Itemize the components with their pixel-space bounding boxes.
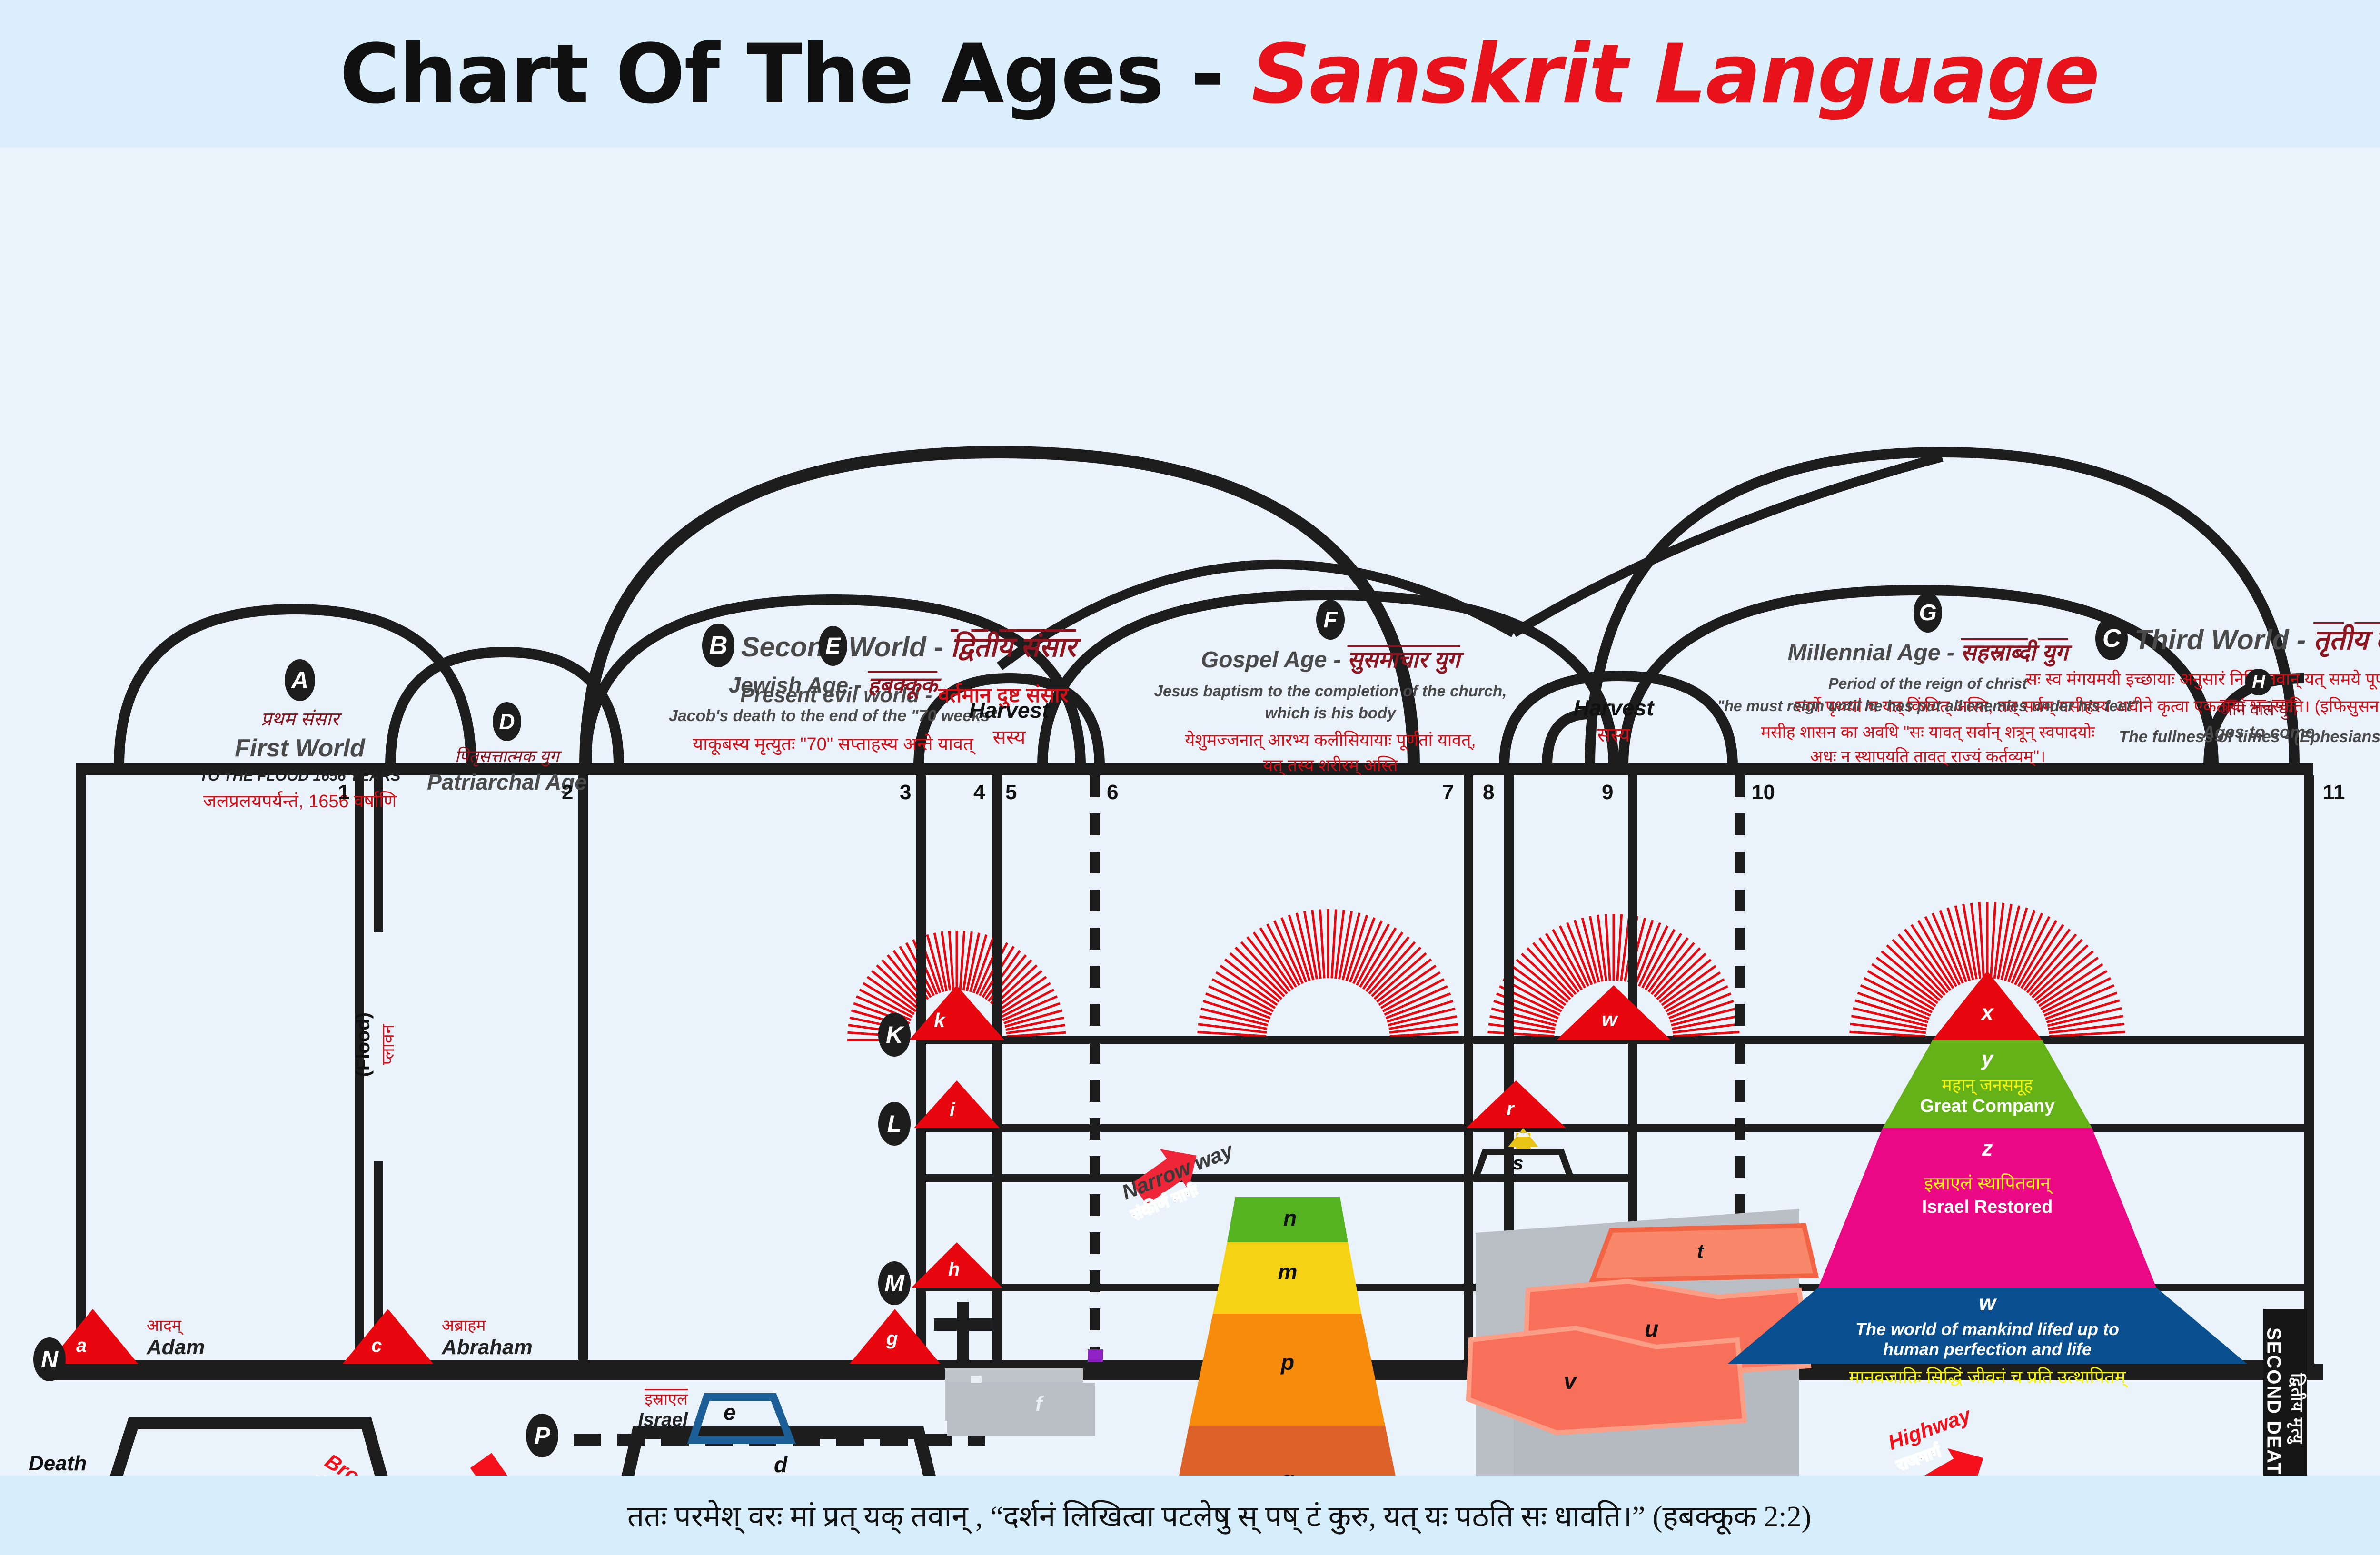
marker-label-e: e — [724, 1399, 736, 1425]
israel-label-sa: इस्राएल — [588, 1387, 688, 1409]
death-label-en: Death — [29, 1452, 87, 1476]
pyramid-band-n: n — [1257, 1205, 1323, 1231]
marker-label-d: d — [628, 1452, 933, 1477]
marker-e: E — [819, 626, 847, 666]
age-g-sub-sa1: मसीह शासन का अवधि "सः यावत् सर्वान् शत्र… — [1633, 721, 2223, 743]
column-number-4: 4 — [973, 781, 985, 804]
age-f-title-en: Gospel Age - — [1201, 647, 1348, 673]
age-f-block: F Gospel Age - सुसमाचार युग Jesus baptis… — [1050, 600, 1611, 776]
row-marker-l: L — [878, 1102, 911, 1146]
great-company-sa: महान् जनसमूह — [1897, 1073, 2078, 1096]
column-number-10: 10 — [1752, 781, 1775, 804]
marker-label-c: c — [371, 1335, 382, 1357]
israel-label-en: Israel — [588, 1409, 688, 1431]
row-marker-k: K — [878, 1013, 911, 1057]
page-title: Chart Of The Ages - Sanskrit Language — [340, 26, 2099, 122]
right-pyramid-band-y: y महान् जनसमूह Great Company — [1897, 1047, 2078, 1117]
marker-label-g: g — [886, 1328, 898, 1349]
marker-label-a: a — [76, 1335, 87, 1357]
harvest-1-sa: सस्य — [919, 723, 1100, 750]
third-world-title-sa: तृतीय लोक — [2313, 624, 2380, 655]
flood-label-sa: प्लावन — [376, 1024, 399, 1065]
age-d-title-en: Patriarchal Age — [395, 769, 619, 795]
column-number-2: 2 — [562, 781, 573, 804]
column-number-1: 1 — [338, 781, 349, 804]
israel-restored-sa: इस्राएलं स्थापितवान् — [1859, 1170, 2116, 1195]
age-g-sub-en2: "he must reign until he has put all enem… — [1633, 697, 2223, 715]
age-h-title-sa: आने वाले युग — [2199, 698, 2318, 720]
world-mankind-en2: human perfection and life — [1761, 1339, 2213, 1359]
chart-of-the-ages-diagram: B Second World - द्वितीय संसार Present e… — [0, 148, 2380, 1476]
row-marker-n: N — [33, 1337, 66, 1381]
second-death-sa: द्वितीय मृत्यु — [2286, 1373, 2308, 1445]
harvest-2-en: Harvest — [1514, 695, 1714, 721]
age-g-title-sa: सहस्राब्दी युग — [1961, 640, 2068, 665]
adam-label-sa: आदम् — [147, 1314, 205, 1336]
marker-label-r: r — [1507, 1099, 1514, 1120]
pyramid-band-p: p — [1254, 1349, 1321, 1375]
harvest-1-en: Harvest — [919, 697, 1100, 723]
column-number-5: 5 — [1005, 781, 1017, 804]
world-mankind-en1: The world of mankind lifed up to — [1761, 1319, 2213, 1339]
marker-label-u: u — [1645, 1316, 1658, 1342]
second-death-en: SECOND DEATH — [2263, 1327, 2284, 1490]
footer-scripture: ततः परमेश् वरः मां प्रत् यक् तवान् , “दर… — [627, 1496, 1811, 1535]
age-e-title-en: Jewish Age - — [729, 673, 868, 697]
marker-g: G — [1914, 593, 1942, 633]
marker-label-s: s — [1513, 1153, 1523, 1174]
flood-label: (Flood) प्लावन — [350, 942, 402, 1147]
marker-label-i: i — [950, 1099, 955, 1121]
age-g-sub-sa2: अधः न स्थापयति तावत् राज्यं कर्तव्यम्"। — [1633, 745, 2223, 767]
column-number-6: 6 — [1107, 781, 1118, 804]
column-number-11: 11 — [2323, 781, 2345, 804]
right-pyramid-band-x: x — [1954, 1000, 2021, 1025]
age-f-sub-sa2: यत् तस्य शरीरम् अस्ति — [1050, 753, 1611, 776]
abraham-label-en: Abraham — [442, 1336, 533, 1359]
right-pyramid-band-w: w The world of mankind lifed up to human… — [1761, 1290, 2213, 1389]
pyramid-band-m: m — [1254, 1259, 1321, 1285]
marker-d: D — [493, 702, 521, 741]
title-main: Chart Of The Ages - — [340, 26, 1251, 122]
adam-label: आदम् Adam — [147, 1314, 205, 1359]
israel-label: इस्राएल Israel — [588, 1387, 688, 1431]
age-g-block: G Millennial Age - सहस्राब्दी युग Period… — [1633, 593, 2223, 767]
column-number-8: 8 — [1483, 781, 1494, 804]
age-h-title-en: Ages to come — [2199, 722, 2318, 742]
marker-label-f-tomb: f — [1035, 1392, 1042, 1416]
marker-h: H — [2245, 669, 2272, 695]
flood-label-en: (Flood) — [353, 1012, 374, 1077]
harvest-2-sa: सस्य — [1514, 721, 1714, 748]
footer-bar: ततः परमेश् वरः मां प्रत् यक् तवान् , “दर… — [0, 1476, 2380, 1555]
harvest-label-2: Harvest सस्य — [1514, 695, 1714, 748]
world-mankind-sa: मानवजातिः सिद्धिं जीवनं च प्रति उत्थापित… — [1761, 1364, 2213, 1389]
title-bar: Chart Of The Ages - Sanskrit Language — [0, 0, 2380, 148]
age-d-title-sa: पितृसत्तात्मक युग — [395, 744, 619, 767]
adam-label-en: Adam — [147, 1336, 205, 1359]
israel-restored-en: Israel Restored — [1859, 1197, 2116, 1218]
marker-label-w-sun: w — [1602, 1008, 1617, 1031]
age-d-block: D पितृसत्तात्मक युग Patriarchal Age — [395, 702, 619, 795]
abraham-label: अब्राहम Abraham — [442, 1314, 533, 1359]
row-marker-m: M — [878, 1261, 911, 1305]
title-highlight: Sanskrit Language — [1251, 26, 2099, 122]
column-number-3: 3 — [900, 781, 911, 804]
great-company-en: Great Company — [1897, 1096, 2078, 1117]
marker-label-t: t — [1697, 1240, 1704, 1263]
age-h-block: H आने वाले युग Ages to come — [2199, 669, 2318, 742]
marker-a: A — [285, 659, 315, 701]
right-pyramid-band-w-label: w — [1761, 1290, 2213, 1316]
right-pyramid-band-y-label: y — [1897, 1047, 2078, 1071]
column-number-9: 9 — [1602, 781, 1613, 804]
harvest-label-1: Harvest सस्य — [919, 697, 1100, 750]
row-marker-p: P — [526, 1414, 558, 1457]
column-number-7: 7 — [1442, 781, 1454, 804]
age-g-title-en: Millennial Age - — [1788, 640, 1961, 665]
right-pyramid-band-z: z इस्राएलं स्थापितवान् Israel Restored — [1859, 1135, 2116, 1218]
age-f-title-sa: सुसमाचार युग — [1347, 647, 1460, 673]
age-e-title-sa: हबक्कूक — [868, 673, 937, 697]
marker-f: F — [1316, 600, 1345, 640]
abraham-label-sa: अब्राहम — [442, 1314, 533, 1336]
marker-label-v: v — [1564, 1368, 1577, 1395]
age-g-sub-en1: Period of the reign of christ — [1633, 675, 2223, 693]
marker-label-h: h — [948, 1259, 960, 1280]
marker-label-k: k — [934, 1009, 945, 1032]
right-pyramid-band-z-label: z — [1859, 1135, 2116, 1161]
